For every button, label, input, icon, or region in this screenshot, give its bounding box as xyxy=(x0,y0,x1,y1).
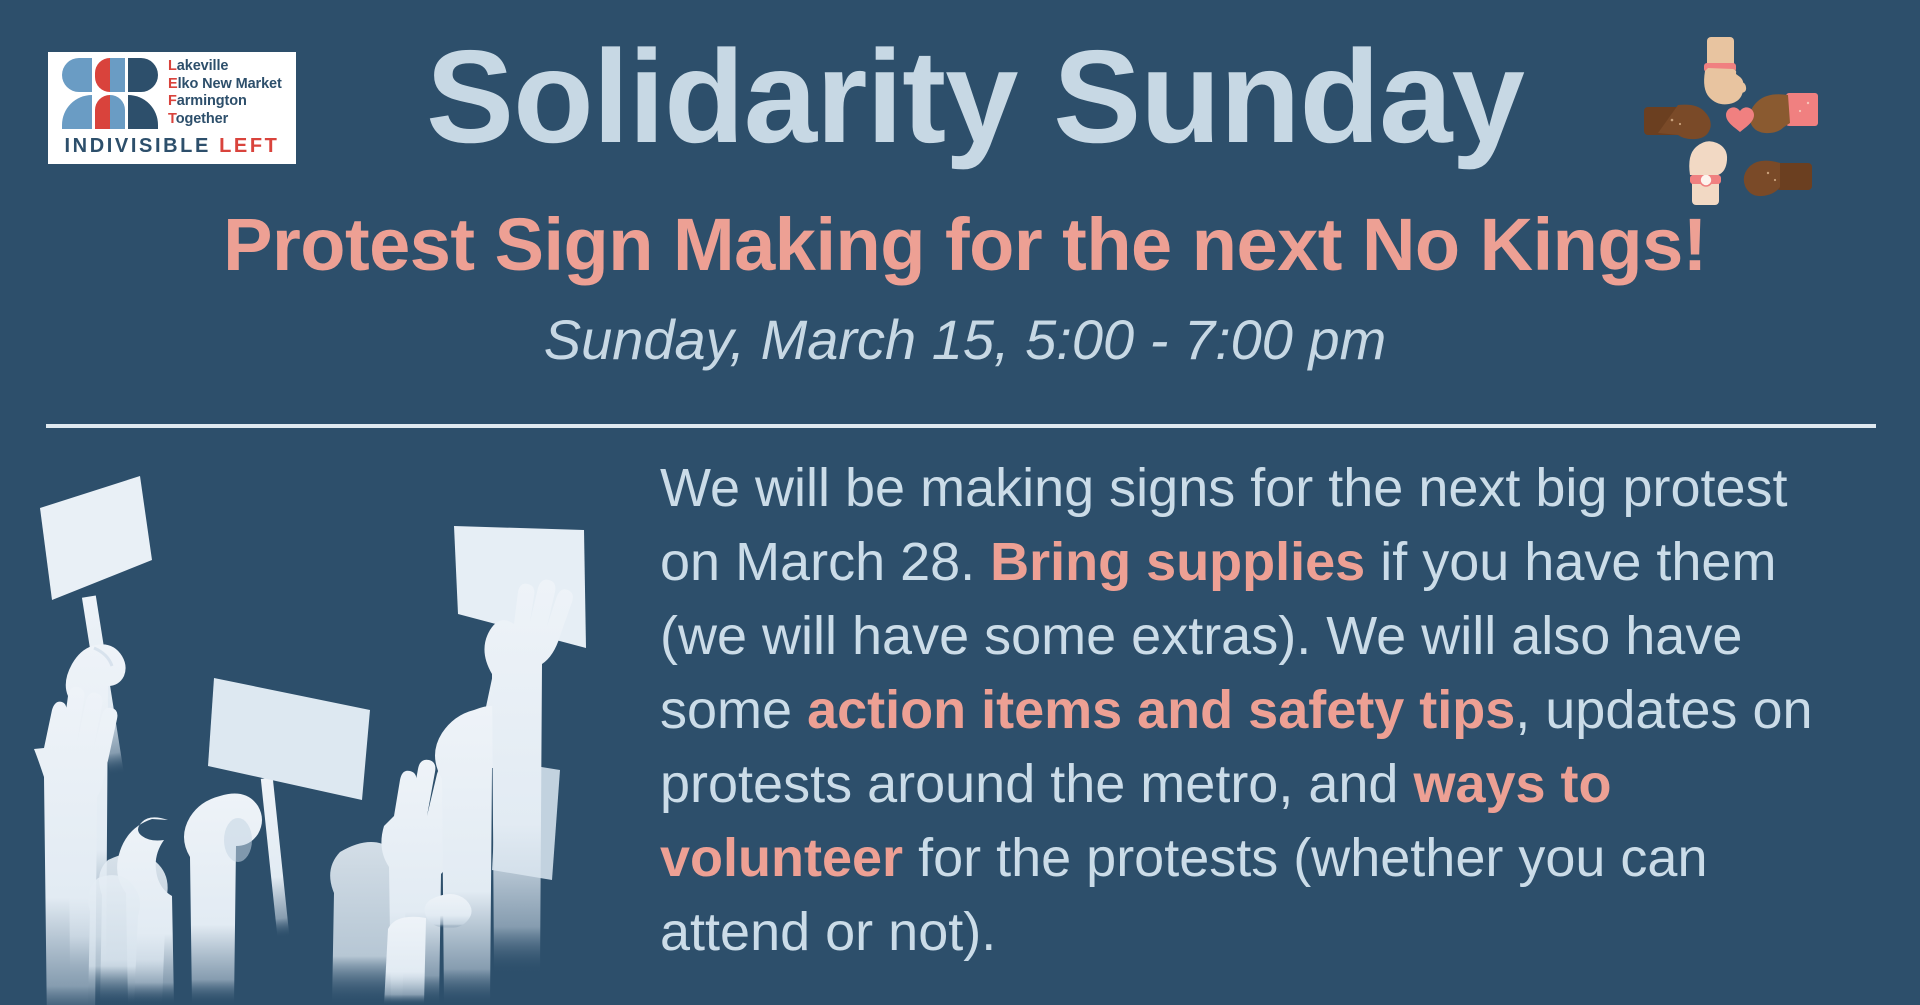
logo-shape-bottom-left xyxy=(62,95,92,129)
desc-highlight-action-items: action items and safety tips xyxy=(807,680,1515,740)
desc-highlight-bring-supplies: Bring supplies xyxy=(990,532,1365,592)
logo-city-initial: F xyxy=(168,93,177,109)
logo-city-initial: E xyxy=(168,76,178,92)
logo-city-initial: T xyxy=(168,111,176,127)
protest-crowd-illustration xyxy=(22,448,622,1005)
event-datetime: Sunday, March 15, 5:00 - 7:00 pm xyxy=(50,312,1880,368)
logo-city-lakeville: Lakeville xyxy=(168,58,282,76)
logo-city-rest: lko New Market xyxy=(178,76,282,92)
solidarity-fists-icon xyxy=(1630,25,1850,205)
logo-city-together: Together xyxy=(168,111,282,129)
figure-head-bottom-left xyxy=(88,875,140,1005)
logo-main-row: Lakeville Elko New Market Farmington Tog… xyxy=(48,58,296,129)
solidarity-fists-svg xyxy=(1630,25,1850,205)
logo-shape-top-center xyxy=(95,58,125,92)
event-subtitle: Protest Sign Making for the next No King… xyxy=(50,208,1880,282)
logo-city-list: Lakeville Elko New Market Farmington Tog… xyxy=(168,58,282,129)
logo-wordmark-left: LEFT xyxy=(219,135,279,157)
logo-city-initial: L xyxy=(168,58,177,74)
logo-city-elko-new-market: Elko New Market xyxy=(168,76,282,94)
horizontal-divider xyxy=(46,424,1876,428)
fist-left xyxy=(1644,105,1711,140)
logo-city-rest: ogether xyxy=(176,111,228,127)
page-title: Solidarity Sunday xyxy=(330,28,1620,167)
logo-city-rest: armington xyxy=(177,93,247,109)
fist-top xyxy=(1704,37,1746,104)
logo-shape-bottom-right xyxy=(128,95,158,129)
logo-mark-grid xyxy=(62,58,158,129)
protest-crowd-svg xyxy=(22,448,622,1005)
fist-right xyxy=(1750,93,1818,133)
indivisible-left-logo: Lakeville Elko New Market Farmington Tog… xyxy=(48,52,296,164)
heart-icon xyxy=(1726,107,1754,132)
logo-wordmark-indivisible: INDIVISIBLE xyxy=(65,135,211,157)
fist-bottom-right xyxy=(1744,161,1812,196)
logo-city-farmington: Farmington xyxy=(168,93,282,111)
fist-bottom-left xyxy=(1689,141,1727,205)
event-description: We will be making signs for the next big… xyxy=(660,452,1840,970)
arm-fist-center-sign xyxy=(184,794,262,1005)
logo-shape-top-left xyxy=(62,58,92,92)
logo-shape-bottom-center xyxy=(95,95,125,129)
poster-canvas: Lakeville Elko New Market Farmington Tog… xyxy=(0,0,1920,1005)
logo-wordmark: INDIVISIBLE LEFT xyxy=(48,135,296,158)
logo-shape-top-right xyxy=(128,58,158,92)
logo-city-rest: akeville xyxy=(177,58,229,74)
